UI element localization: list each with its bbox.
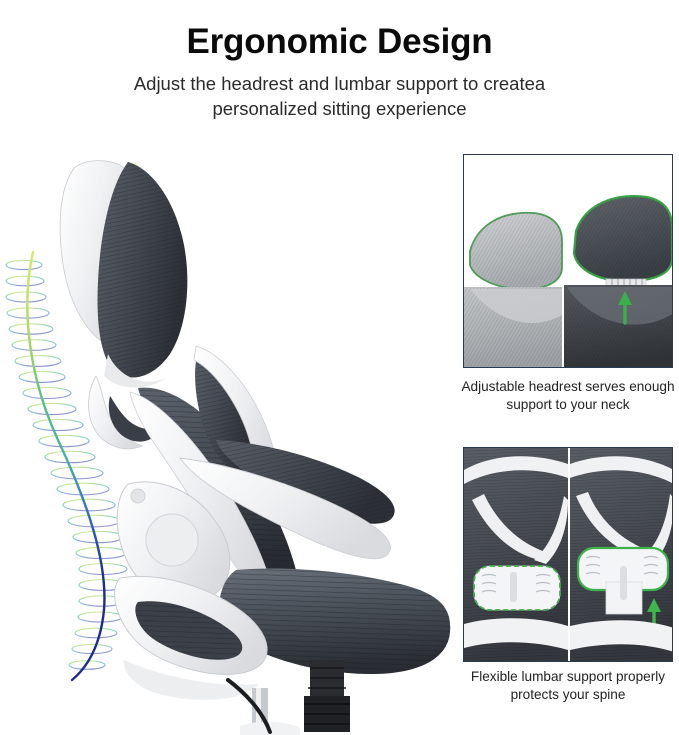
flexible-lumbar-support-panel [463, 447, 673, 662]
headrest-lowered-state [464, 213, 562, 368]
main-product-image [0, 140, 452, 735]
page-title: Ergonomic Design [0, 22, 679, 62]
lumbar-comparison-image [464, 448, 673, 662]
office-chair-illustration [0, 140, 452, 735]
adjustable-headrest-panel [463, 154, 673, 368]
infographic-page: Ergonomic Design Adjust the headrest and… [0, 0, 679, 735]
header: Ergonomic Design Adjust the headrest and… [0, 22, 679, 122]
headrest-comparison-image [464, 155, 673, 368]
page-subtitle: Adjust the headrest and lumbar support t… [80, 72, 600, 122]
tilt-knob [146, 514, 198, 566]
lumbar-lowered-state [464, 448, 568, 662]
headrest-caption: Adjustable headrest serves enough suppor… [457, 378, 679, 414]
lumbar-caption: Flexible lumbar support properly protect… [457, 668, 679, 704]
lumbar-raised-state [570, 448, 673, 662]
